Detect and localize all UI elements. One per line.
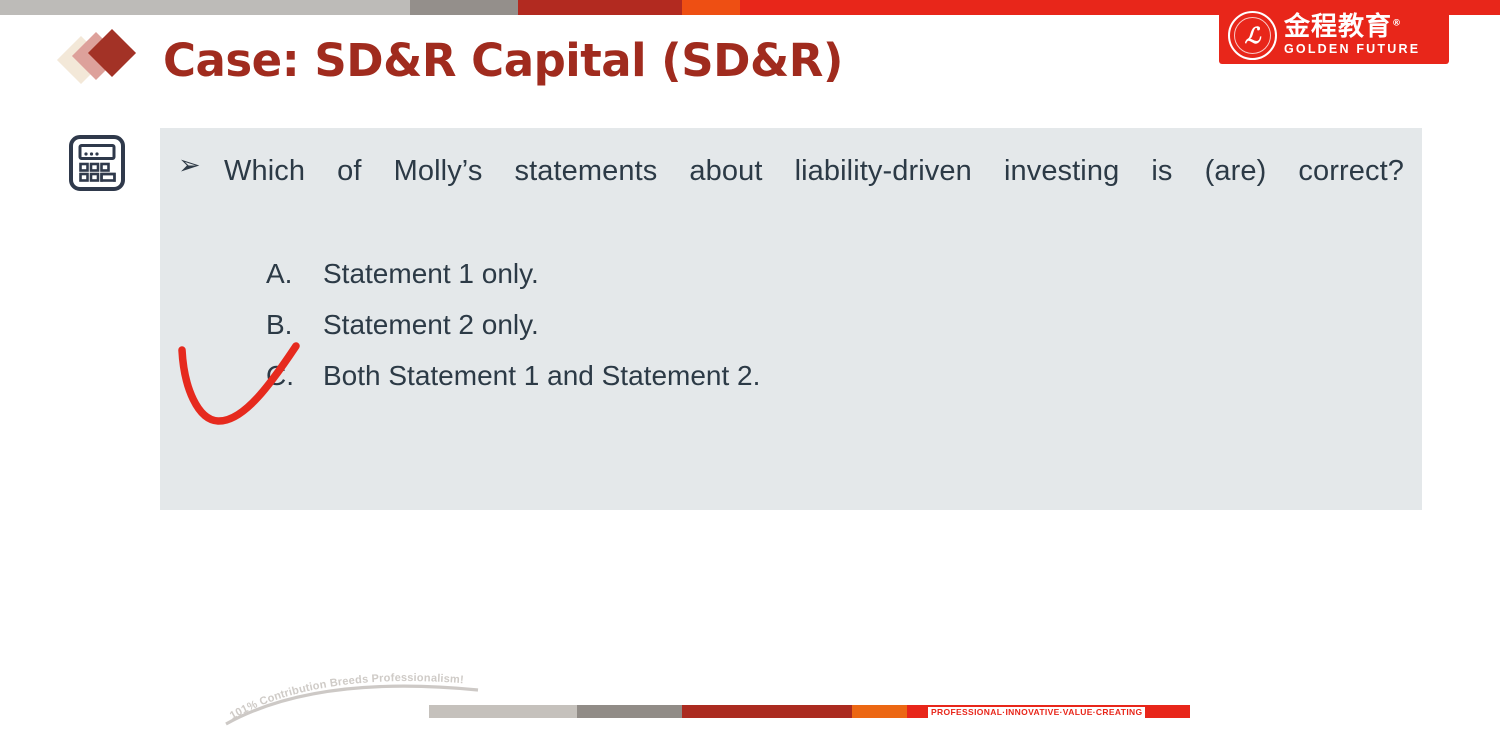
bullet-arrow-icon: ➢ [178, 148, 224, 179]
brand-logo: ℒ 金程教育® GOLDEN FUTURE [1219, 7, 1449, 64]
top-bar-segment-light-gray [0, 0, 410, 15]
top-bar-segment-dark-red [518, 0, 682, 15]
footer-bar-segment-orange [852, 705, 907, 718]
registered-mark-icon: ® [1392, 18, 1402, 28]
answer-option-a-label: Statement 1 only. [323, 254, 1404, 293]
footer-bar-segment-light-gray [429, 705, 577, 718]
answer-option-b-letter: B. [266, 305, 323, 344]
answer-options-list: A. Statement 1 only. B. Statement 2 only… [178, 254, 1404, 396]
footer-tagline: PROFESSIONAL·INNOVATIVE·VALUE·CREATING [928, 707, 1145, 718]
top-bar-segment-orange [682, 0, 740, 15]
brand-text-block: 金程教育® GOLDEN FUTURE [1284, 14, 1420, 57]
answer-option-b[interactable]: B. Statement 2 only. [266, 305, 1404, 344]
brand-name-cn-text: 金程教育 [1284, 12, 1392, 42]
title-diamond-icon [62, 28, 154, 88]
answer-option-c[interactable]: C. Both Statement 1 and Statement 2. [266, 356, 1404, 395]
answer-option-b-label: Statement 2 only. [323, 305, 1404, 344]
top-bar-segment-medium-gray [410, 0, 518, 15]
question-text: Which of Molly’s statements about liabil… [224, 148, 1404, 242]
brand-name-cn: 金程教育® [1284, 14, 1420, 41]
answer-option-c-label: Both Statement 1 and Statement 2. [323, 356, 1404, 395]
footer-bar-segment-medium-gray [577, 705, 682, 718]
brand-seal-icon: ℒ [1228, 11, 1277, 60]
footer-bar-segment-dark-red [682, 705, 852, 718]
calculator-icon [68, 134, 126, 192]
answer-option-a-letter: A. [266, 254, 323, 293]
page-title: Case: SD&R Capital (SD&R) [163, 34, 843, 87]
brand-name-en: GOLDEN FUTURE [1284, 42, 1420, 57]
answer-option-c-letter: C. [266, 356, 323, 395]
question-row: ➢ Which of Molly’s statements about liab… [178, 148, 1404, 242]
answer-option-a[interactable]: A. Statement 1 only. [266, 254, 1404, 293]
question-panel: ➢ Which of Molly’s statements about liab… [160, 128, 1422, 510]
brand-seal-monogram: ℒ [1245, 25, 1261, 47]
